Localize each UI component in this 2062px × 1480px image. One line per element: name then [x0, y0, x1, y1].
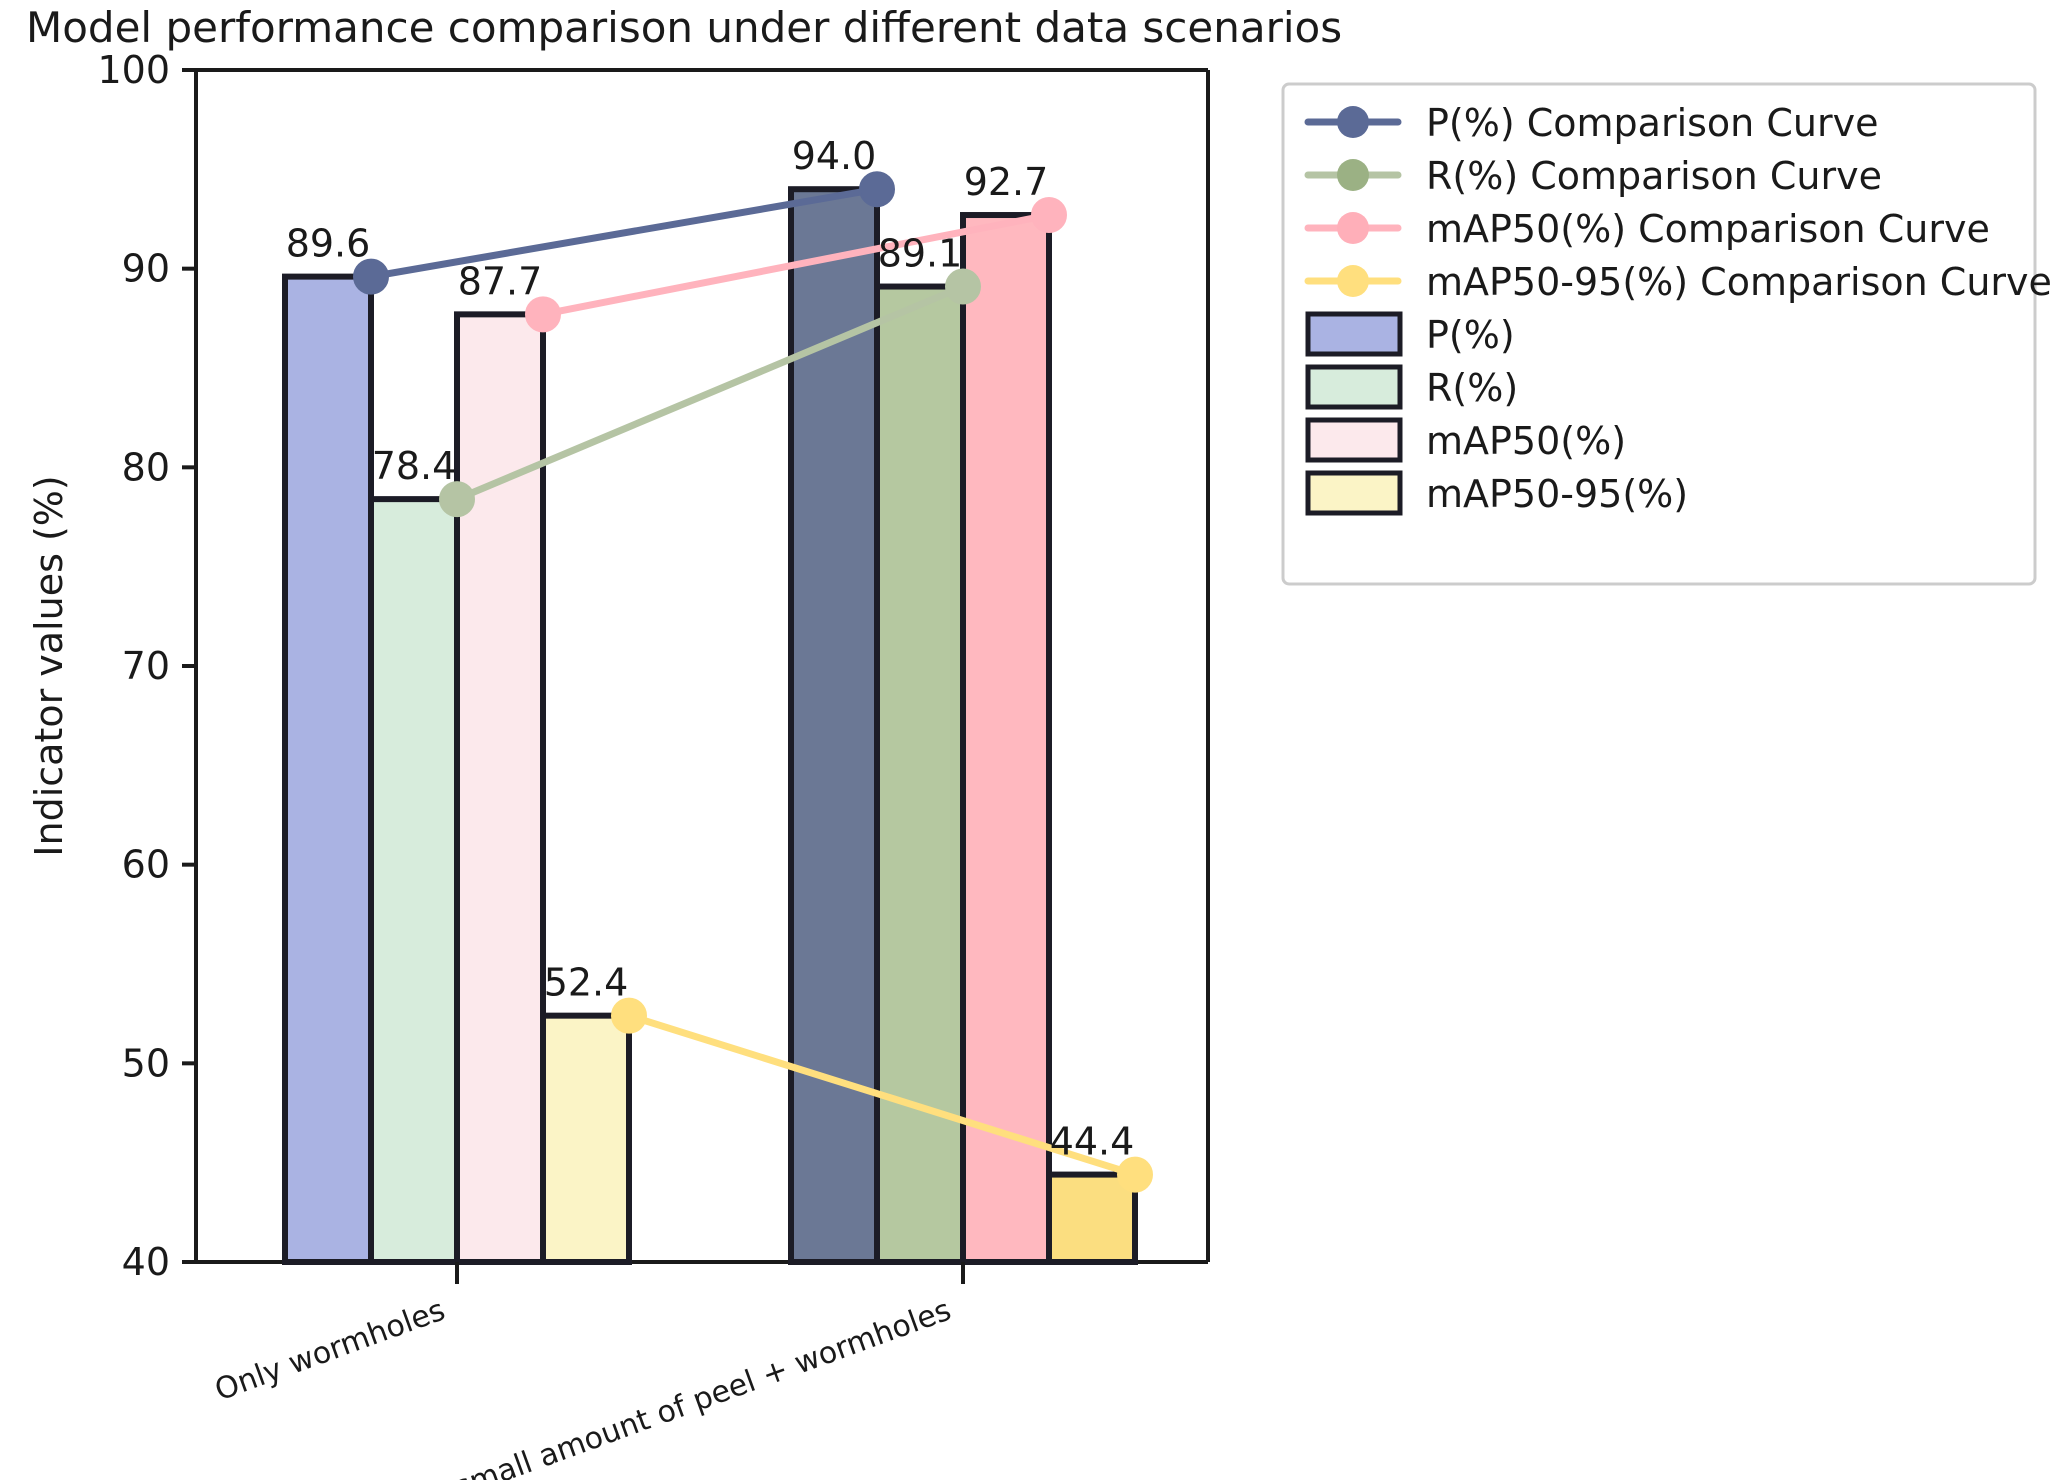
legend-entry-label[interactable]: P(%) Comparison Curve [1426, 101, 1878, 145]
legend-entry-label[interactable]: mAP50(%) [1426, 419, 1626, 463]
value-label: 52.4 [544, 961, 629, 1005]
legend-entry-label[interactable]: mAP50-95(%) Comparison Curve [1426, 260, 2052, 304]
bar-mAP5095-cat1 [1049, 1175, 1135, 1262]
y-tick-label: 40 [122, 1240, 170, 1284]
value-label: 89.6 [286, 222, 371, 266]
value-label: 44.4 [1050, 1120, 1135, 1164]
legend-marker-icon [1337, 106, 1369, 138]
legend-color-swatch [1308, 314, 1400, 354]
y-tick-label: 90 [122, 247, 170, 291]
bar-mAP50-cat0 [457, 314, 543, 1262]
chart-legend[interactable]: P(%) Comparison CurveR(%) Comparison Cur… [1283, 84, 2052, 584]
y-axis-label: Indicator values (%) [27, 475, 71, 856]
x-tick-label: A small amount of peel + wormholes [422, 1293, 956, 1480]
legend-marker-icon [1337, 159, 1369, 191]
value-label: 89.1 [878, 232, 963, 276]
legend-entry-label[interactable]: P(%) [1426, 313, 1515, 357]
y-tick-label: 70 [122, 644, 170, 688]
value-label: 94.0 [792, 134, 877, 178]
bars-layer [285, 189, 1135, 1262]
legend-color-swatch [1308, 420, 1400, 460]
y-axis-ticks: 405060708090100 [97, 48, 196, 1284]
y-tick-label: 60 [122, 843, 170, 887]
legend-entry-label[interactable]: R(%) Comparison Curve [1426, 154, 1882, 198]
legend-color-swatch [1308, 473, 1400, 513]
bar-mAP5095-cat0 [543, 1016, 629, 1262]
legend-entry-label[interactable]: R(%) [1426, 366, 1518, 410]
legend-marker-icon [1337, 265, 1369, 297]
y-tick-label: 80 [122, 445, 170, 489]
y-tick-label: 100 [97, 48, 170, 92]
value-label: 92.7 [964, 160, 1049, 204]
y-tick-label: 50 [122, 1041, 170, 1085]
value-label: 78.4 [372, 444, 457, 488]
x-tick-label: Only wormholes [210, 1293, 449, 1409]
value-label: 87.7 [458, 259, 543, 303]
bar-R-cat0 [371, 499, 457, 1262]
figure-canvas: Model performance comparison under diffe… [0, 0, 2062, 1480]
bar-mAP50-cat1 [963, 215, 1049, 1262]
legend-marker-icon [1337, 212, 1369, 244]
legend-entry-label[interactable]: mAP50(%) Comparison Curve [1426, 207, 1990, 251]
chart-svg: Model performance comparison under diffe… [0, 0, 2062, 1480]
page-title: Model performance comparison under diffe… [26, 3, 1342, 52]
legend-entry-label[interactable]: mAP50-95(%) [1426, 472, 1688, 516]
bar-P-cat0 [285, 277, 371, 1262]
x-axis-ticks: Only wormholesA small amount of peel + w… [210, 1262, 963, 1480]
legend-color-swatch [1308, 367, 1400, 407]
